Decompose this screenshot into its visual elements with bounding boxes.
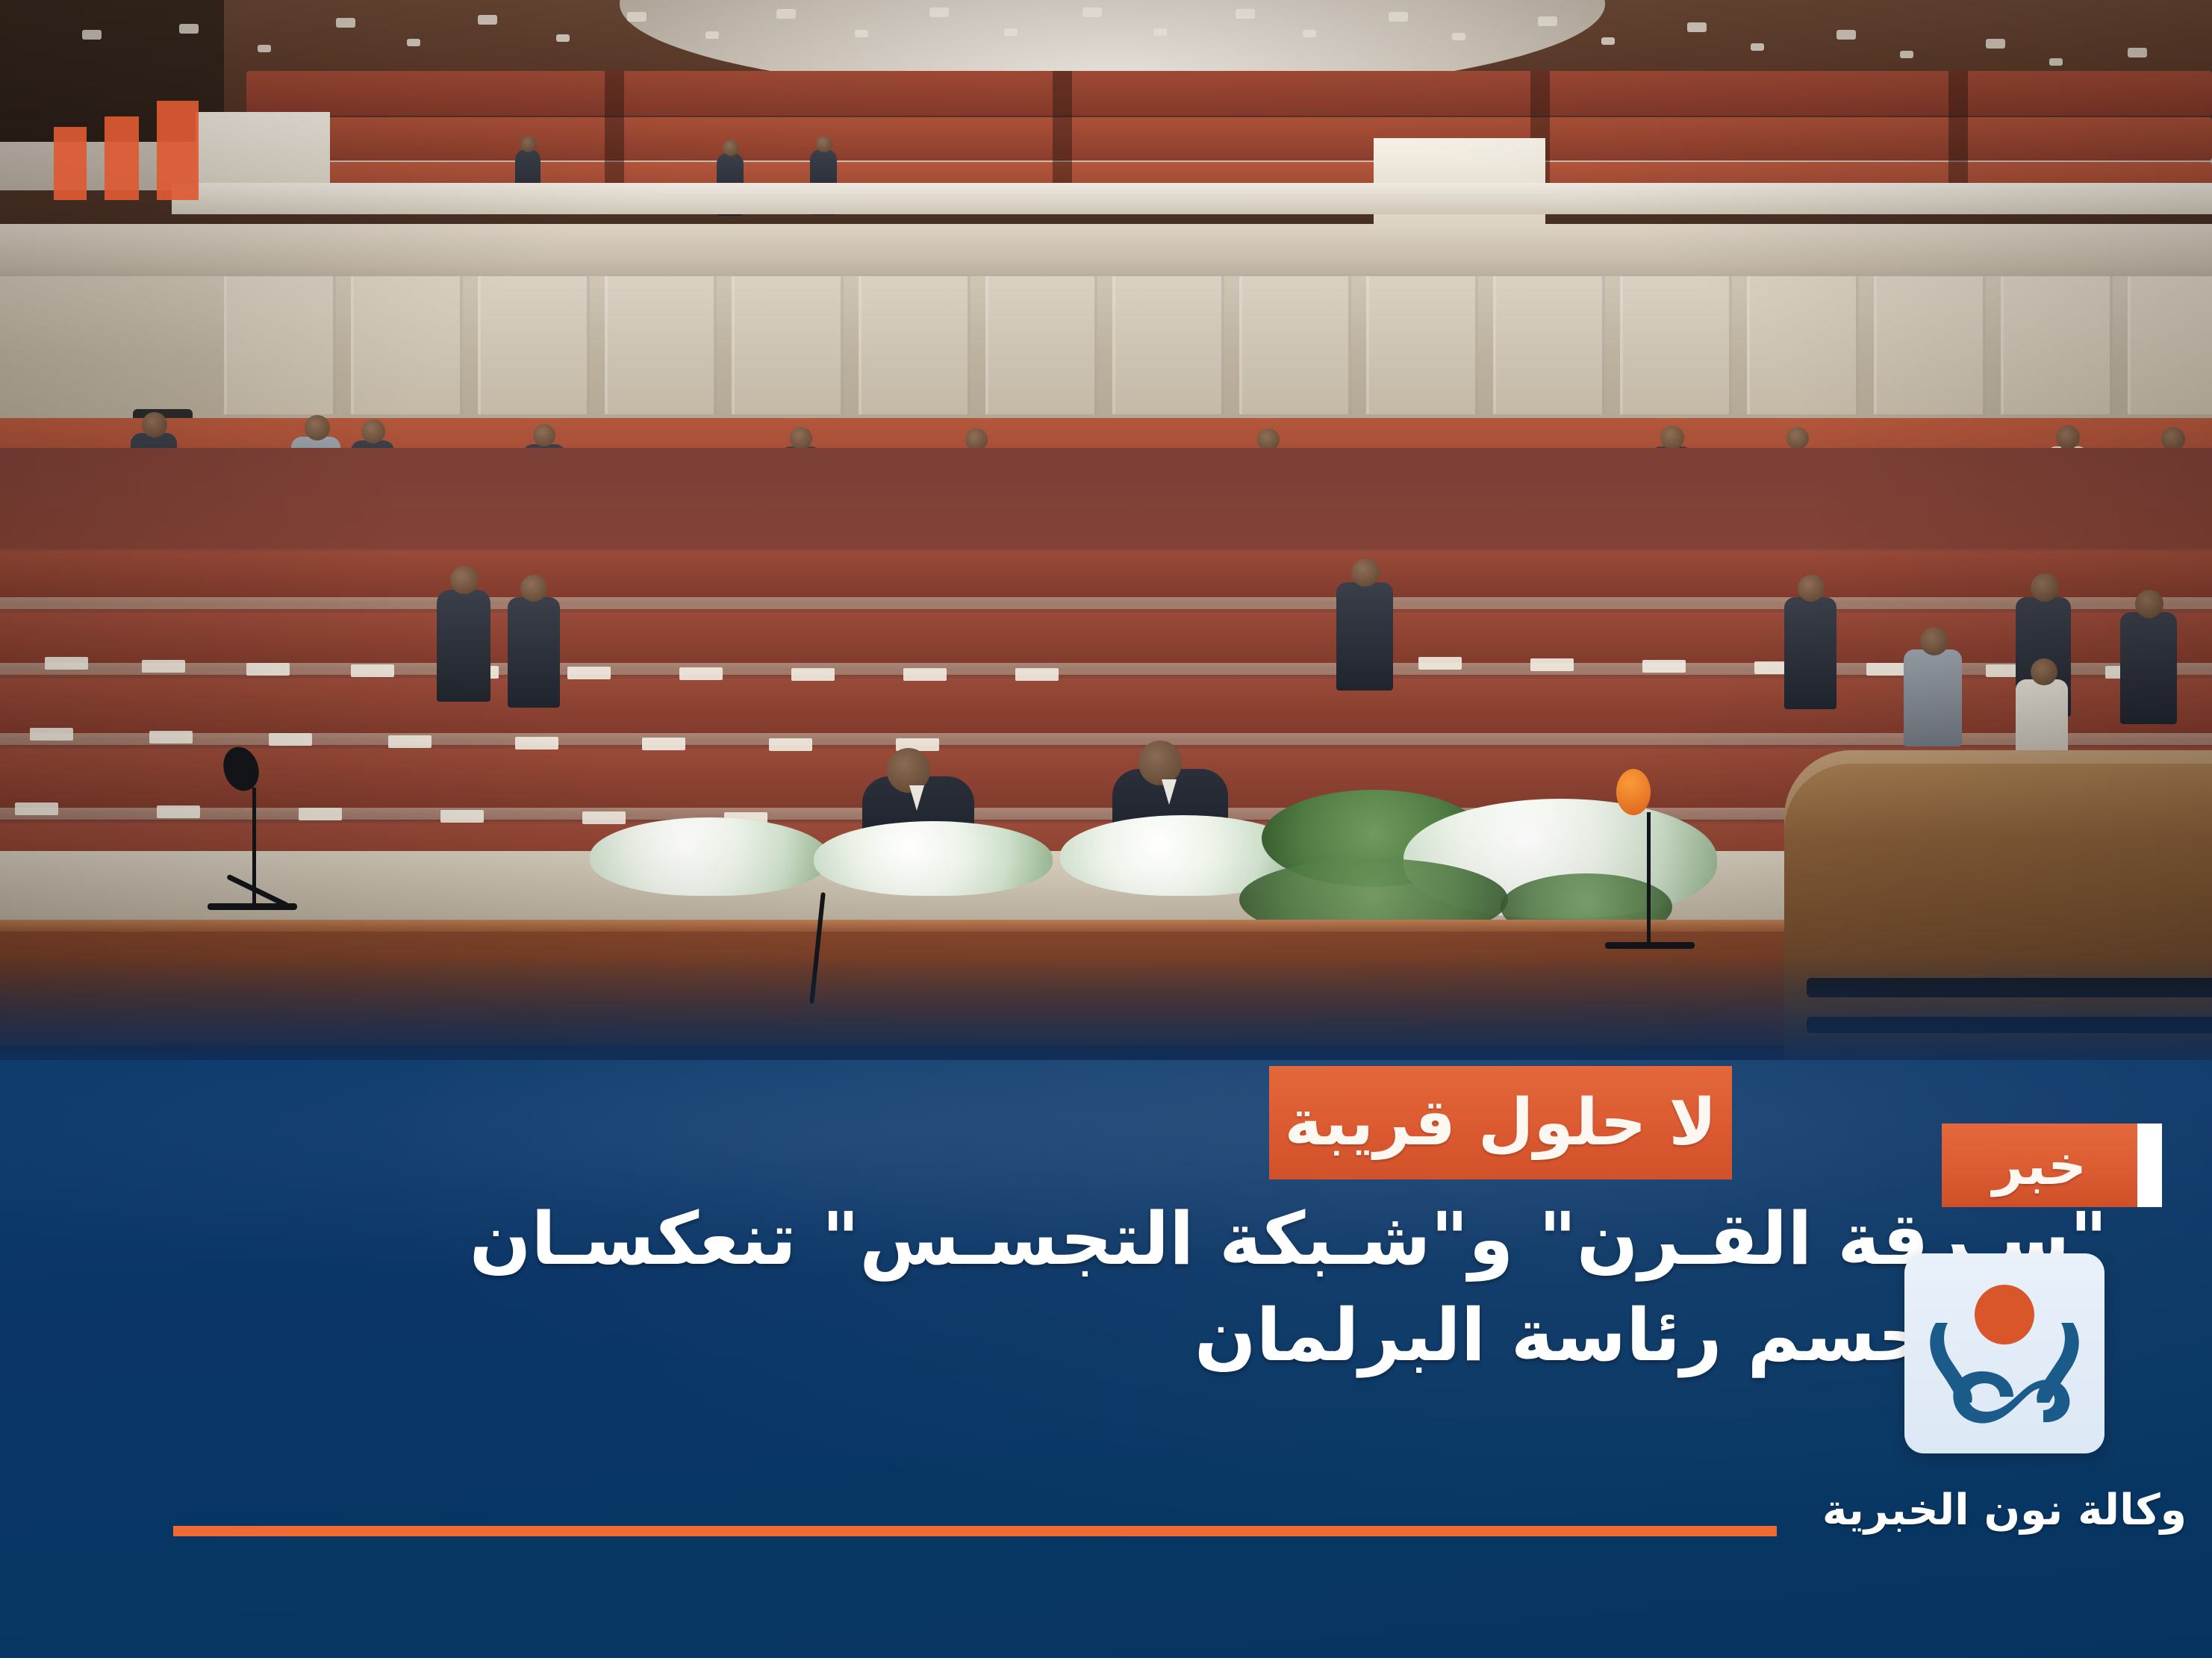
agency-name: وكالة نون الخبرية [1822, 1489, 2187, 1532]
news-tag: خبر [1942, 1123, 2165, 1207]
noon-agency-logo [1904, 1253, 2104, 1453]
news-tag-label: خبر [1993, 1138, 2087, 1192]
kicker-label: لا حلول قريبة [1285, 1091, 1717, 1155]
kicker-badge: لا حلول قريبة [1269, 1066, 1732, 1179]
news-card: لا حلول قريبة "سـرقة القـرن" و"شـبكة الت… [0, 0, 2212, 1658]
flower-arrangement-center [814, 821, 1053, 896]
microphone-head-right [1616, 769, 1651, 815]
parliament-chamber-photo [0, 0, 2212, 1082]
headline-underline [173, 1526, 1777, 1536]
brand-block: خبر وكالة نون الخبرية [1844, 1123, 2165, 1532]
news-tag-box: خبر [1942, 1123, 2137, 1207]
flower-arrangement-left [590, 817, 829, 896]
news-tag-bar [2137, 1123, 2162, 1207]
balcony-box-left [196, 112, 330, 194]
balcony-rail [172, 183, 2212, 214]
three-bars-watermark-icon [54, 101, 199, 200]
wall-panels [0, 276, 2212, 418]
